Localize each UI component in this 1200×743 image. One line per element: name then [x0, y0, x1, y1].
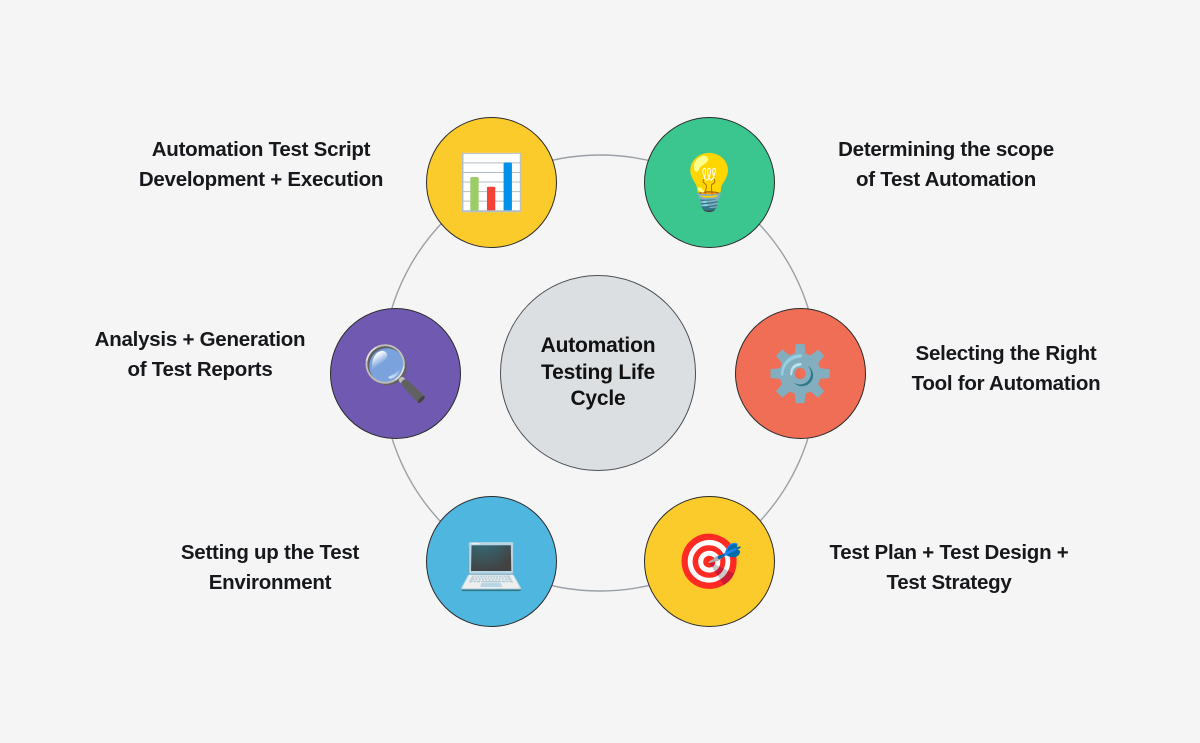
label-determining-scope-line-2: of Test Automation: [810, 165, 1082, 195]
label-test-environment-line-1: Setting up the Test: [152, 538, 388, 568]
node-test-environment[interactable]: 💻: [426, 496, 557, 627]
hub-title-line-3: Cycle: [541, 386, 656, 413]
light-bulb-icon: 💡: [676, 156, 743, 210]
node-selecting-tool[interactable]: ⚙️: [735, 308, 866, 439]
node-test-plan[interactable]: 🎯: [644, 496, 775, 627]
label-test-environment-line-2: Environment: [152, 568, 388, 598]
label-determining-scope-line-1: Determining the scope: [810, 135, 1082, 165]
hub-title-line-2: Testing Life: [541, 360, 656, 387]
laptop-icon: 💻: [458, 535, 525, 589]
label-test-plan: Test Plan + Test Design + Test Strategy: [803, 538, 1095, 599]
hub-title: Automation Testing Life Cycle: [541, 333, 656, 414]
label-test-reports-line-1: Analysis + Generation: [72, 325, 328, 355]
bar-chart-icon: 📊: [458, 156, 525, 210]
label-test-plan-line-2: Test Strategy: [803, 568, 1095, 598]
label-determining-scope: Determining the scope of Test Automation: [810, 135, 1082, 196]
dart-target-icon: 🎯: [676, 535, 743, 589]
gear-icon: ⚙️: [767, 347, 834, 401]
label-script-development-line-1: Automation Test Script: [121, 135, 401, 165]
label-test-plan-line-1: Test Plan + Test Design +: [803, 538, 1095, 568]
label-test-environment: Setting up the Test Environment: [152, 538, 388, 599]
node-test-reports[interactable]: 🔍: [330, 308, 461, 439]
label-script-development: Automation Test Script Development + Exe…: [121, 135, 401, 196]
hub-center-circle: Automation Testing Life Cycle: [500, 275, 696, 471]
label-selecting-tool: Selecting the Right Tool for Automation: [888, 339, 1124, 400]
label-selecting-tool-line-2: Tool for Automation: [888, 369, 1124, 399]
node-script-development[interactable]: 📊: [426, 117, 557, 248]
label-test-reports: Analysis + Generation of Test Reports: [72, 325, 328, 386]
label-test-reports-line-2: of Test Reports: [72, 355, 328, 385]
label-script-development-line-2: Development + Execution: [121, 165, 401, 195]
magnifying-glass-icon: 🔍: [362, 347, 429, 401]
label-selecting-tool-line-1: Selecting the Right: [888, 339, 1124, 369]
automation-testing-life-cycle-diagram: Automation Testing Life Cycle 📊 Automati…: [0, 0, 1200, 743]
node-determining-scope[interactable]: 💡: [644, 117, 775, 248]
hub-title-line-1: Automation: [541, 333, 656, 360]
